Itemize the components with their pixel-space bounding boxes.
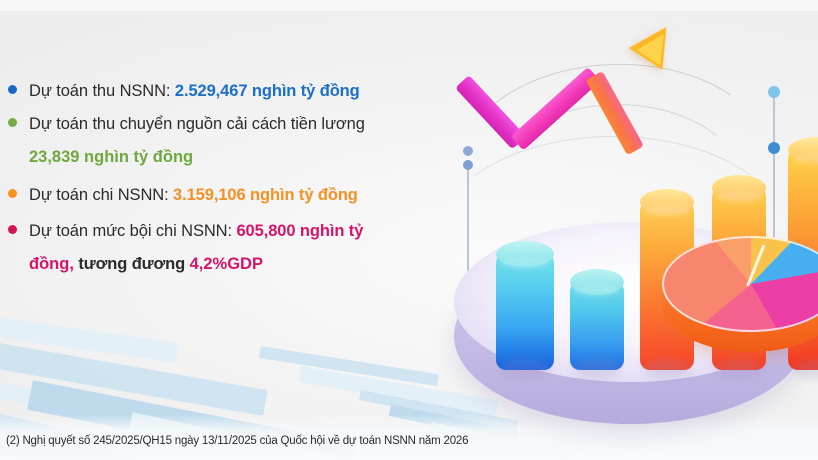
bullet-label: Dự toán chi NSNN: <box>29 186 173 204</box>
list-item: Dự toán thu chuyển nguồn cải cách tiền l… <box>8 111 448 137</box>
bullet-value: 3.159,106 nghìn tỷ đồng <box>173 186 358 204</box>
marker-dot-icon <box>768 86 780 98</box>
arrow-segment <box>586 71 644 155</box>
bullet-value-cont: đồng, <box>29 255 74 273</box>
bullet-value: 23,839 nghìn tỷ đồng <box>29 144 448 170</box>
bullet-label: Dự toán thu chuyển nguồn cải cách tiền l… <box>29 115 365 133</box>
slide-root: Dự toán thu NSNN: 2.529,467 nghìn tỷ đồn… <box>0 0 818 460</box>
bullet-continuation: đồng, tương đương 4,2%GDP <box>29 251 448 277</box>
marker-dot-icon <box>768 142 780 154</box>
bullet-dot-icon <box>8 225 17 234</box>
bullet-label: Dự toán mức bội chi NSNN: <box>29 222 236 240</box>
list-item: Dự toán mức bội chi NSNN: 605,800 nghìn … <box>8 218 448 244</box>
growth-arrow-icon <box>458 26 708 166</box>
bar-2 <box>570 276 624 370</box>
bullet-dot-icon <box>8 85 17 94</box>
bullet-text: Dự toán thu NSNN: 2.529,467 nghìn tỷ đồn… <box>29 78 360 104</box>
bullet-dot-icon <box>8 189 17 198</box>
bullet-label: Dự toán thu NSNN: <box>29 82 175 100</box>
bar-1 <box>496 248 554 370</box>
bullet-dot-icon <box>8 118 17 127</box>
footnote: (2) Nghị quyết số 245/2025/QH15 ngày 13/… <box>6 435 468 447</box>
bullet-tail: tương đương <box>74 255 190 273</box>
pie-chart <box>662 236 818 352</box>
growth-chart-illustration <box>440 8 818 428</box>
bullet-text: Dự toán thu chuyển nguồn cải cách tiền l… <box>29 111 365 137</box>
bullet-tail-value: 4,2%GDP <box>190 255 263 273</box>
bullet-value: 2.529,467 nghìn tỷ đồng <box>175 82 360 100</box>
bullet-value: 605,800 nghìn tỷ <box>236 222 363 240</box>
bullet-text: Dự toán chi NSNN: 3.159,106 nghìn tỷ đồn… <box>29 182 358 208</box>
bullet-list: Dự toán thu NSNN: 2.529,467 nghìn tỷ đồn… <box>8 78 448 289</box>
marker-line-left <box>467 160 469 284</box>
list-item: Dự toán chi NSNN: 3.159,106 nghìn tỷ đồn… <box>8 182 448 208</box>
list-item: Dự toán thu NSNN: 2.529,467 nghìn tỷ đồn… <box>8 78 448 104</box>
bullet-text: Dự toán mức bội chi NSNN: 605,800 nghìn … <box>29 218 363 244</box>
